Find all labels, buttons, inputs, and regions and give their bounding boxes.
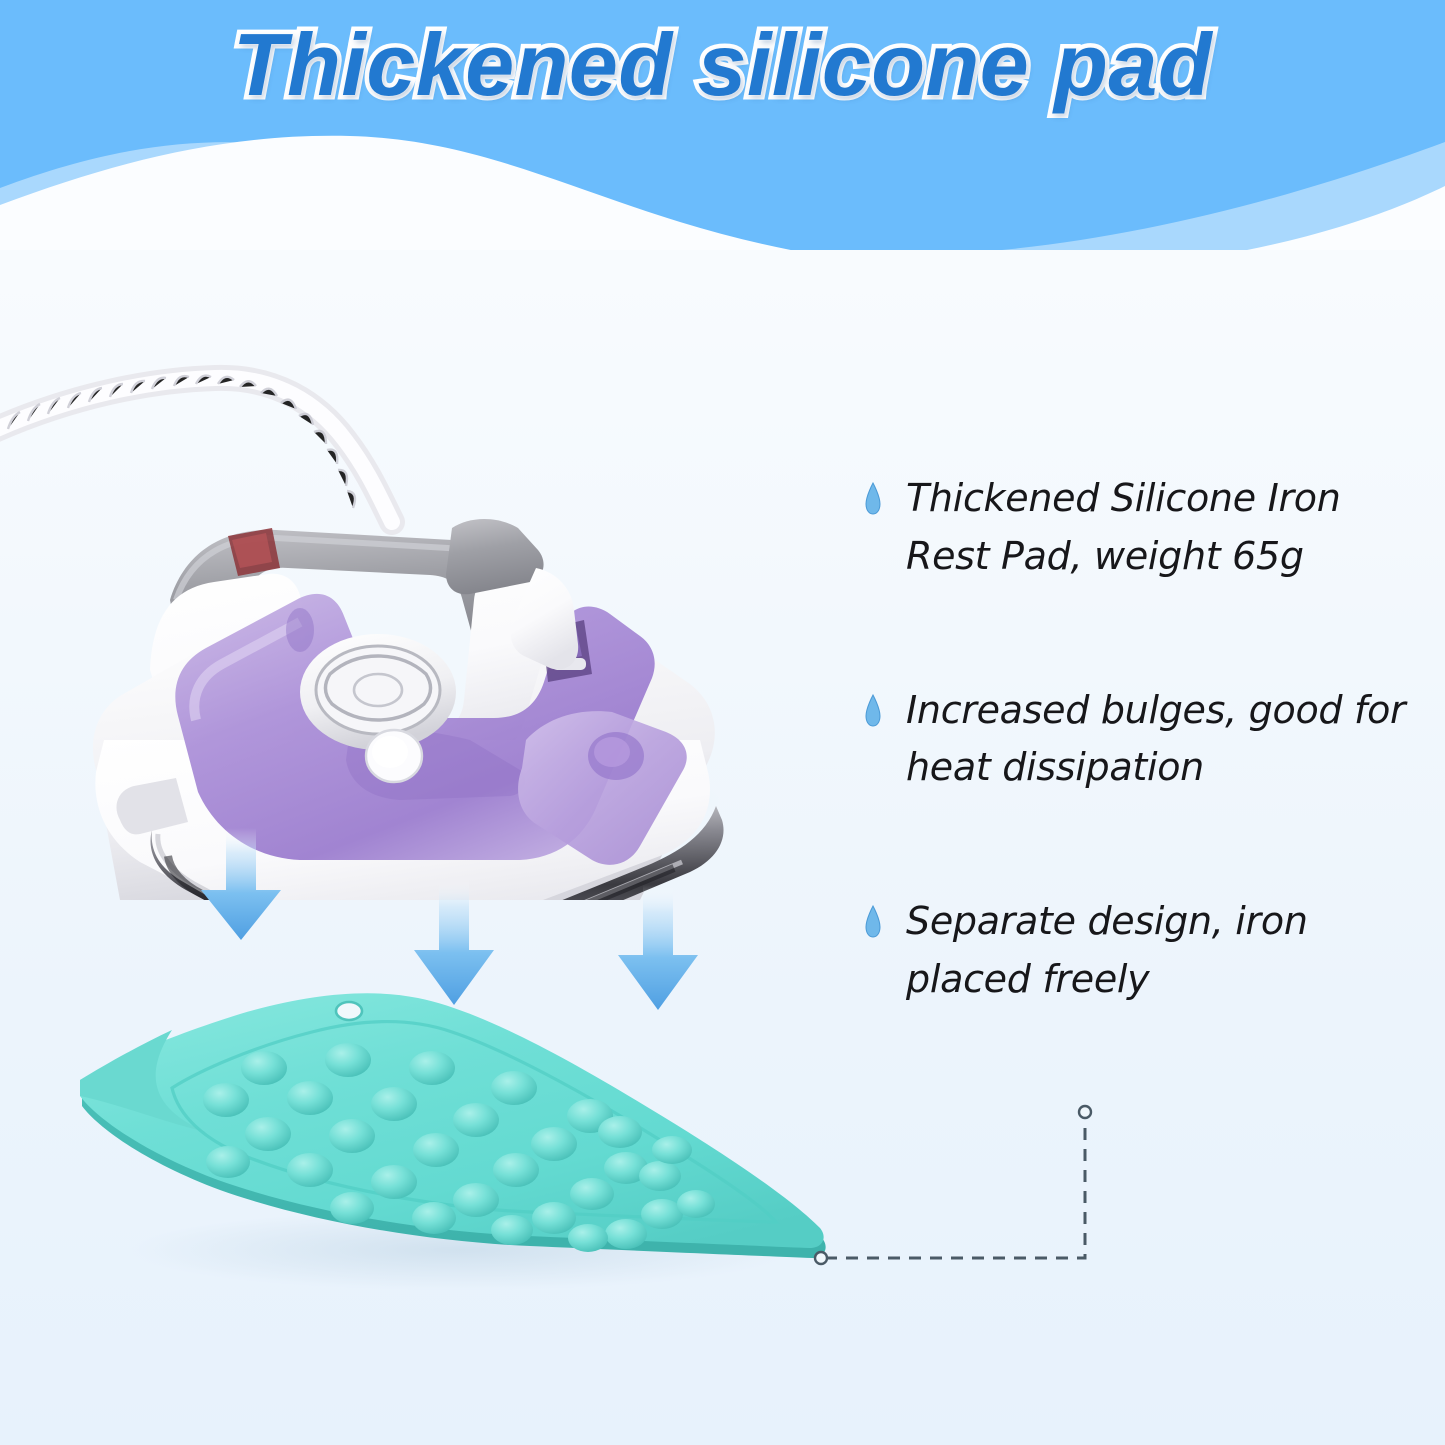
water-droplet-glyph [862, 905, 884, 939]
infographic-page: Thickened silicone pad [0, 0, 1445, 1445]
feature-list: Thickened Silicone Iron Rest Pad, weight… [862, 470, 1422, 1009]
dimension-callout-graphic [795, 1090, 1135, 1270]
callout-endpoint-top [1079, 1106, 1091, 1118]
down-arrow-glyph [193, 828, 289, 940]
feature-item-1: Thickened Silicone Iron Rest Pad, weight… [862, 470, 1422, 586]
header-banner: Thickened silicone pad [0, 0, 1445, 250]
water-droplet-icon [862, 694, 884, 728]
steam-iron-image [0, 300, 800, 900]
water-droplet-icon [862, 905, 884, 939]
feature-text: Thickened Silicone Iron Rest Pad, weight… [906, 470, 1422, 586]
callout-dashed-path [825, 1118, 1085, 1258]
silicone-pad-graphic [60, 960, 860, 1300]
silicone-pad-image [60, 960, 860, 1300]
water-droplet-icon [862, 482, 884, 516]
feature-text: Increased bulges, good for heat dissipat… [906, 682, 1422, 798]
water-droplet-glyph [862, 694, 884, 728]
feature-item-3: Separate design, iron placed freely [862, 893, 1422, 1009]
tank-detail-oval [286, 608, 314, 652]
callout-endpoint-left [815, 1252, 827, 1264]
dimension-callout-line [795, 1090, 1135, 1270]
iron-power-cord [0, 376, 392, 522]
iron-spray-button[interactable] [366, 730, 422, 782]
feature-item-2: Increased bulges, good for heat dissipat… [862, 682, 1422, 798]
iron-spray-nozzle-inner [594, 737, 630, 767]
steam-iron-graphic [0, 300, 800, 900]
feature-text: Separate design, iron placed freely [906, 893, 1422, 1009]
down-arrow-icon [193, 828, 289, 940]
water-droplet-glyph [862, 482, 884, 516]
page-title: Thickened silicone pad [0, 14, 1445, 115]
pad-hanging-hole [336, 1002, 362, 1020]
iron-temperature-dial[interactable] [300, 634, 456, 750]
